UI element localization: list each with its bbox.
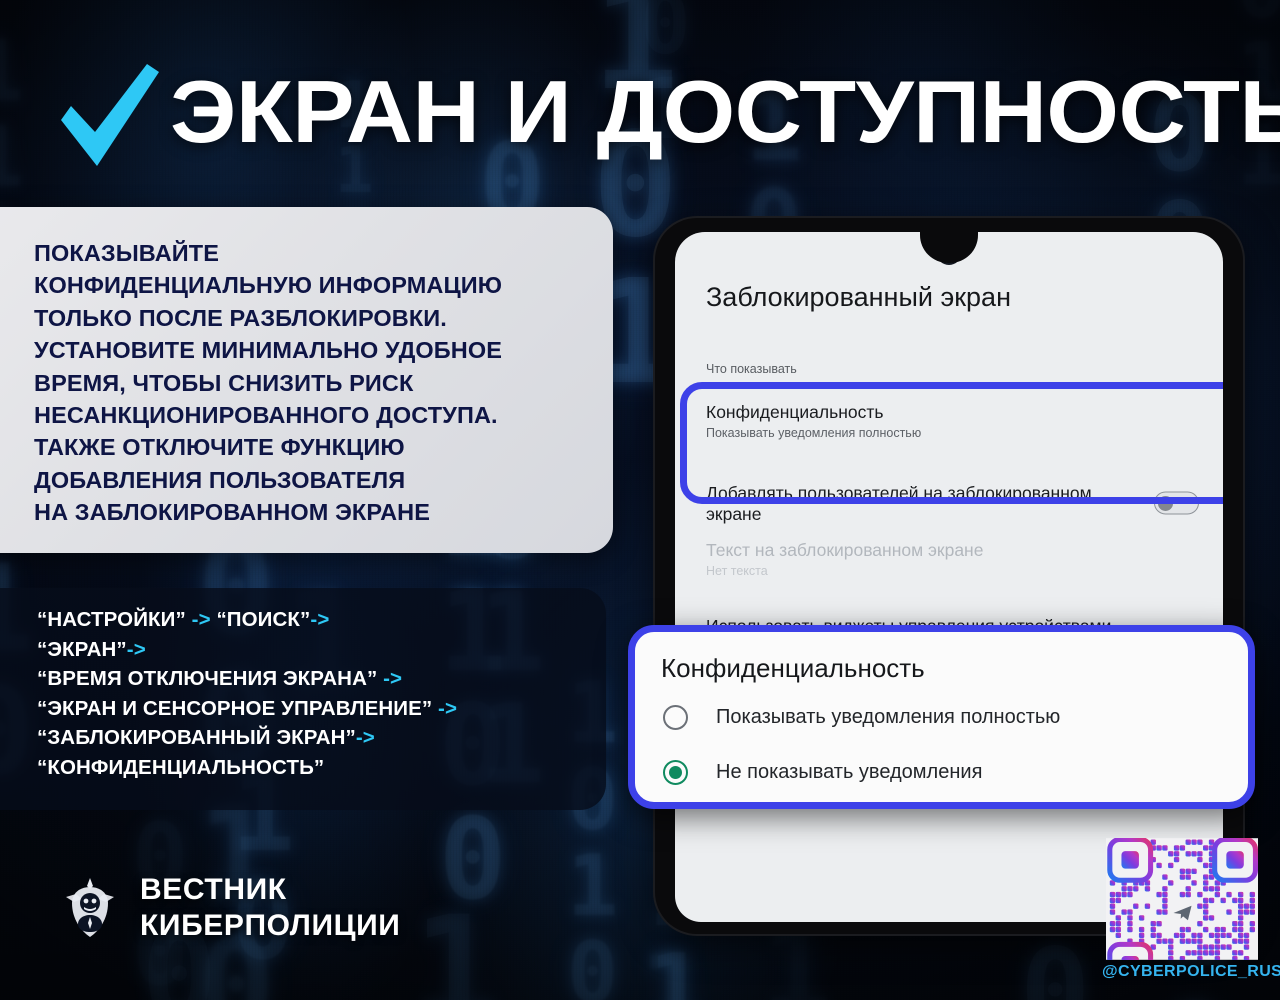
- page-title: ЭКРАН И ДОСТУПНОСТЬ: [170, 57, 1280, 167]
- path-arrow-icon: ->: [377, 667, 402, 690]
- phone-notch: [920, 232, 978, 263]
- path-step-label: “ПОИСК”: [216, 608, 310, 631]
- police-emblem-icon: [62, 877, 118, 939]
- toggle-knob: [1158, 496, 1173, 511]
- navigation-path-panel: “НАСТРОЙКИ” -> “ПОИСК”->“ЭКРАН”->“ВРЕМЯ …: [0, 588, 606, 810]
- settings-row-title: Текст на заблокированном экране: [706, 540, 1199, 561]
- dialog-option-label: Не показывать уведомления: [716, 761, 982, 784]
- check-icon: [47, 58, 167, 178]
- dialog-title: Конфиденциальность: [661, 653, 925, 684]
- settings-row-subtitle: Нет текста: [706, 564, 1199, 578]
- settings-row[interactable]: Добавлять пользователей на заблокированн…: [675, 475, 1223, 531]
- advice-panel: ПОКАЗЫВАЙТЕ КОНФИДЕНЦИАЛЬНУЮ ИНФОРМАЦИЮ …: [0, 207, 613, 553]
- path-arrow-icon: ->: [432, 697, 457, 720]
- radio-unselected-icon[interactable]: [663, 705, 688, 730]
- header-banner: ЭКРАН И ДОСТУПНОСТЬ: [0, 0, 1280, 195]
- settings-row-title: Конфиденциальность: [706, 402, 1199, 423]
- dialog-radio-option[interactable]: Не показывать уведомления: [635, 760, 1248, 785]
- settings-row-text: Добавлять пользователей на заблокированн…: [706, 483, 1137, 525]
- navigation-path-line: “ЭКРАН И СЕНСОРНОЕ УПРАВЛЕНИЕ” ->: [37, 694, 597, 724]
- phone-mockup: Заблокированный экран Что показывать Кон…: [655, 218, 1243, 934]
- settings-row-subtitle: Показывать уведомления полностью: [706, 426, 1199, 440]
- path-step-label: “НАСТРОЙКИ”: [37, 608, 186, 631]
- navigation-path-line: “КОНФИДЕНЦИАЛЬНОСТЬ”: [37, 753, 597, 783]
- navigation-path-line: “ЭКРАН”->: [37, 635, 597, 665]
- settings-row-text: Текст на заблокированном экранеНет текст…: [706, 540, 1199, 578]
- settings-row-title: Добавлять пользователей на заблокированн…: [706, 483, 1137, 525]
- advice-text: ПОКАЗЫВАЙТЕ КОНФИДЕНЦИАЛЬНУЮ ИНФОРМАЦИЮ …: [34, 237, 594, 529]
- dialog-option-label: Показывать уведомления полностью: [716, 706, 1060, 729]
- navigation-path-list: “НАСТРОЙКИ” -> “ПОИСК”->“ЭКРАН”->“ВРЕМЯ …: [37, 605, 597, 782]
- path-arrow-icon: ->: [356, 726, 375, 749]
- brand-block: ВЕСТНИК КИБЕРПОЛИЦИИ: [62, 872, 400, 944]
- path-step-label: “ЭКРАН”: [37, 638, 127, 661]
- path-arrow-icon: ->: [310, 608, 329, 631]
- settings-row-toggle[interactable]: [1154, 492, 1199, 515]
- brand-name: ВЕСТНИК КИБЕРПОЛИЦИИ: [140, 872, 400, 944]
- settings-row-text: КонфиденциальностьПоказывать уведомления…: [706, 402, 1199, 440]
- privacy-dialog: Конфиденциальность Показывать уведомлени…: [628, 625, 1255, 809]
- path-step-label: “ЭКРАН И СЕНСОРНОЕ УПРАВЛЕНИЕ”: [37, 697, 432, 720]
- settings-section-label: Что показывать: [706, 362, 797, 376]
- settings-screen-title: Заблокированный экран: [706, 282, 1011, 313]
- settings-row[interactable]: Текст на заблокированном экранеНет текст…: [675, 532, 1223, 594]
- navigation-path-line: “НАСТРОЙКИ” -> “ПОИСК”->: [37, 605, 597, 635]
- settings-row[interactable]: КонфиденциальностьПоказывать уведомления…: [675, 394, 1223, 472]
- qr-block[interactable]: @CYBERPOLICE_RUS: [1102, 838, 1262, 981]
- path-arrow-icon: ->: [127, 638, 146, 661]
- path-step-label: “ЗАБЛОКИРОВАННЫЙ ЭКРАН”: [37, 726, 356, 749]
- path-step-label: “ВРЕМЯ ОТКЛЮЧЕНИЯ ЭКРАНА”: [37, 667, 377, 690]
- path-arrow-icon: ->: [186, 608, 217, 631]
- qr-code-icon[interactable]: [1106, 838, 1258, 960]
- navigation-path-line: “ЗАБЛОКИРОВАННЫЙ ЭКРАН”->: [37, 723, 597, 753]
- telegram-handle: @CYBERPOLICE_RUS: [1102, 963, 1262, 981]
- navigation-path-line: “ВРЕМЯ ОТКЛЮЧЕНИЯ ЭКРАНА” ->: [37, 664, 597, 694]
- phone-screen: Заблокированный экран Что показывать Кон…: [675, 232, 1223, 922]
- radio-selected-icon[interactable]: [663, 760, 688, 785]
- path-step-label: “КОНФИДЕНЦИАЛЬНОСТЬ”: [37, 756, 324, 779]
- dialog-radio-option[interactable]: Показывать уведомления полностью: [635, 705, 1248, 730]
